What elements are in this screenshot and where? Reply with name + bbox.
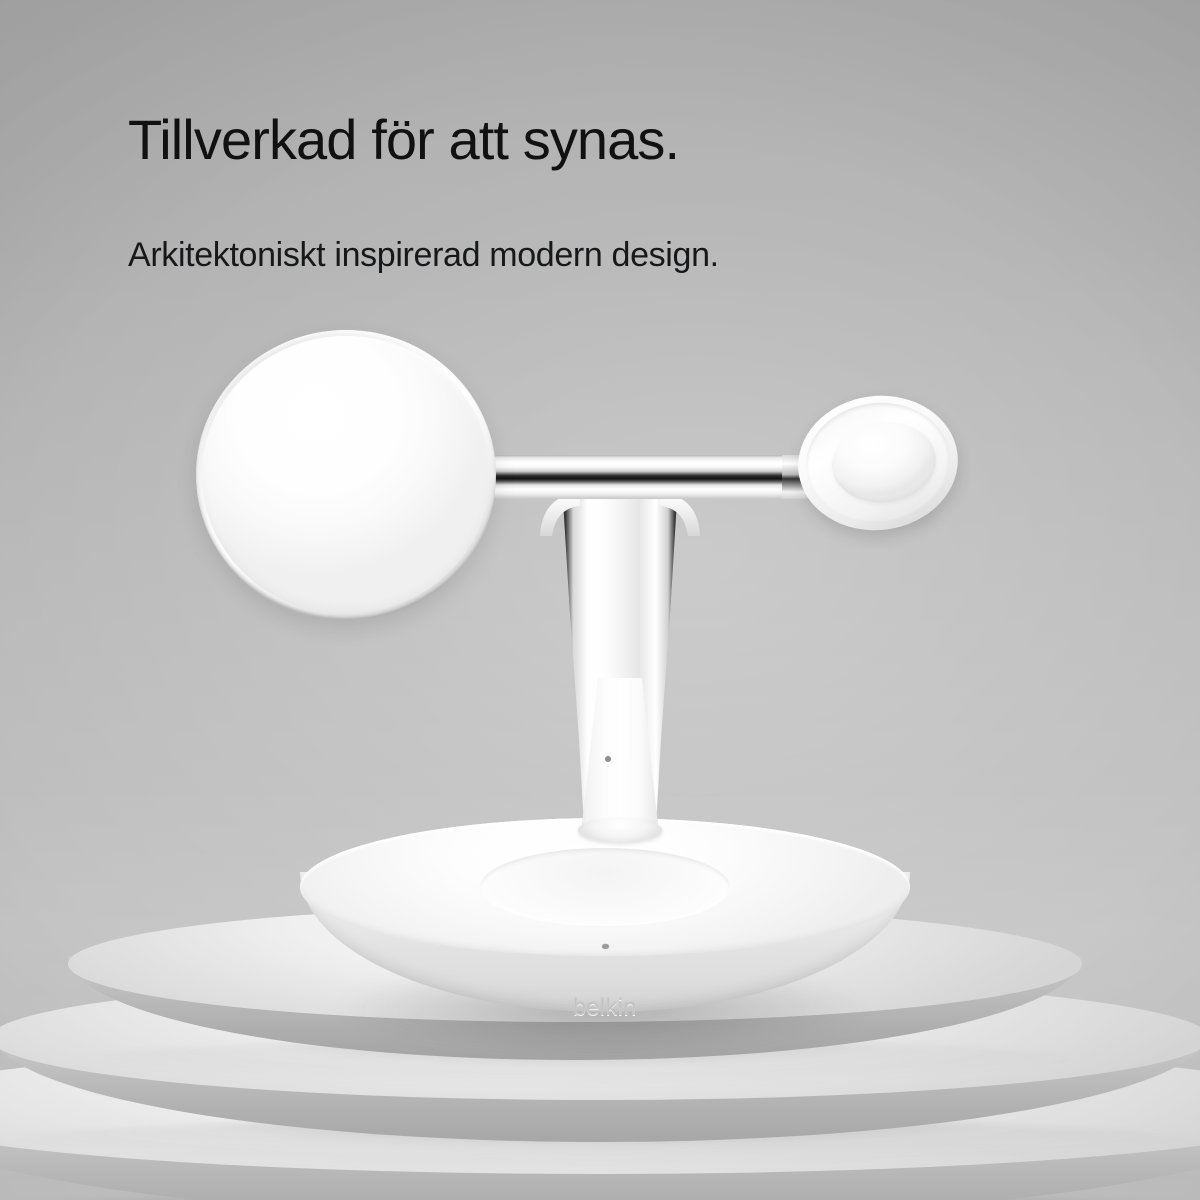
chrome-stem <box>560 490 680 840</box>
watch-charger-ring <box>799 395 956 530</box>
chrome-arm <box>470 455 810 499</box>
belkin-logo: belkin <box>300 994 910 1021</box>
promo-image: belkin Tillverkad för att synas. Arkitek… <box>0 0 1200 1200</box>
magsafe-pad-rim <box>196 330 496 620</box>
stem-led-indicator <box>605 756 611 762</box>
magsafe-charging-pad <box>196 330 496 620</box>
page-subhead: Arkitektoniskt inspirerad modern design. <box>128 170 1128 276</box>
chrome-stem-foot <box>578 818 662 842</box>
page-headline: Tillverkad för att synas. <box>128 110 1128 170</box>
watch-charger-dome <box>827 416 940 508</box>
marketing-copy: Tillverkad för att synas. Arkitektoniskt… <box>128 110 1128 276</box>
charger-base: belkin <box>300 818 910 1034</box>
